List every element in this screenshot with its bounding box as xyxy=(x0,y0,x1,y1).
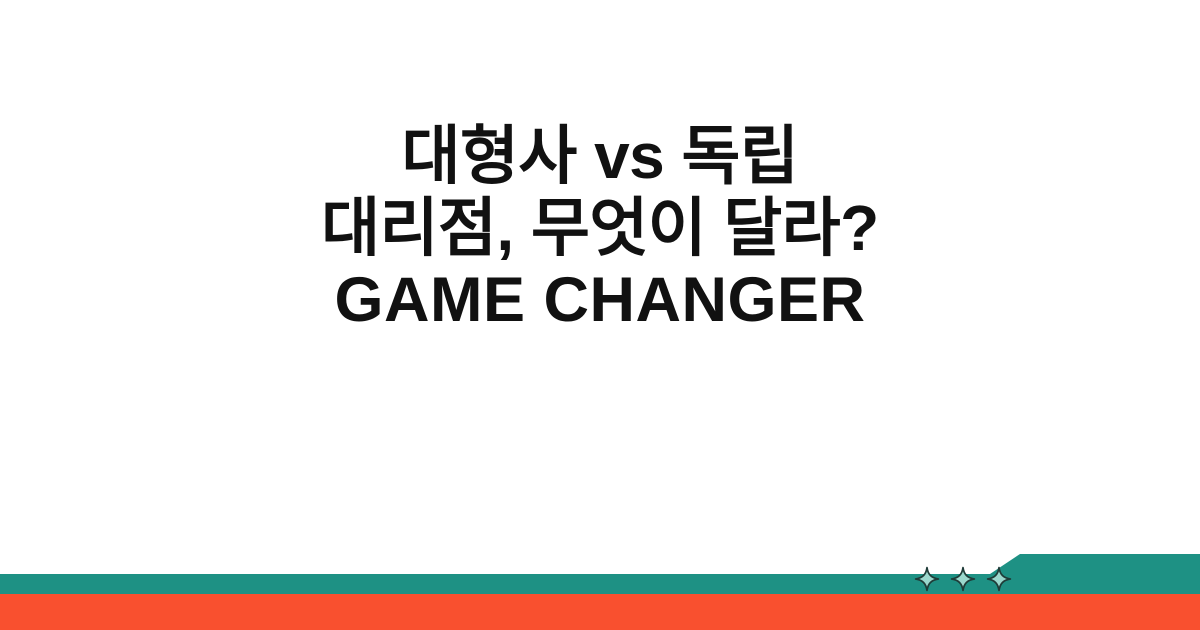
orange-band xyxy=(0,594,1200,630)
sparkle-group xyxy=(914,566,1012,592)
title-line-3: GAME CHANGER xyxy=(334,265,865,336)
headline-block: 대형사 vs 독립 대리점, 무엇이 달라? GAME CHANGER xyxy=(0,0,1200,548)
sparkle-diamond-1 xyxy=(914,566,940,592)
sparkle-diamond-3 xyxy=(986,566,1012,592)
sparkle-diamond-2 xyxy=(950,566,976,592)
footer-bands xyxy=(0,520,1200,630)
title-line-1: 대형사 vs 독립 xyxy=(402,120,799,192)
title-line-2: 대리점, 무엇이 달라? xyxy=(321,192,878,264)
thumbnail-card: 대형사 vs 독립 대리점, 무엇이 달라? GAME CHANGER xyxy=(0,0,1200,630)
